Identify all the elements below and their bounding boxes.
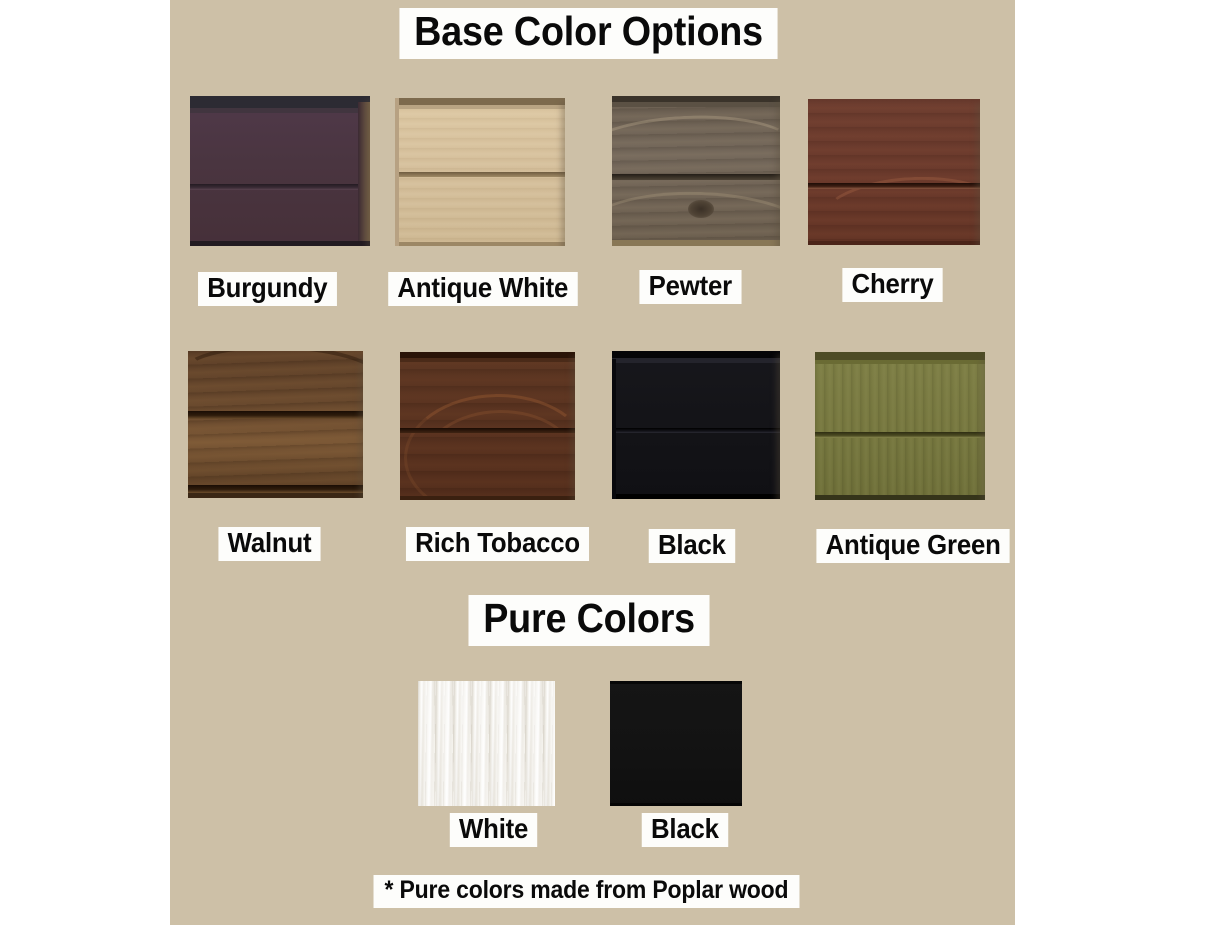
footnote-text: * Pure colors made from Poplar wood [374,875,800,908]
swatch-label-rich-tobacco: Rich Tobacco [406,527,589,561]
swatch-cherry [808,99,980,245]
swatch-black-wood [612,351,780,499]
swatch-label-burgundy: Burgundy [198,272,337,306]
page-root: Base Color Options Burgundy Antique Whit… [0,0,1214,925]
swatch-burgundy [190,96,370,246]
swatch-shadow [976,103,980,245]
swatch-walnut [188,351,363,498]
swatch-pure-black [610,681,742,806]
swatch-pewter [612,96,780,246]
swatch-label-pure-black: Black [642,813,728,847]
swatch-rich-tobacco [400,352,575,500]
swatch-label-pewter: Pewter [639,270,741,304]
page-title: Base Color Options [399,8,777,59]
swatch-shadow [776,355,780,499]
swatch-shadow [359,355,363,498]
swatch-label-antique-white: Antique White [388,272,577,306]
swatch-shadow [776,100,780,246]
swatch-label-cherry: Cherry [842,268,942,302]
swatch-antique-green [815,352,985,500]
swatch-antique-white [395,98,565,246]
color-chart-board: Base Color Options Burgundy Antique Whit… [170,0,1015,925]
swatch-shadow [571,356,575,500]
swatch-label-antique-green: Antique Green [816,529,1009,563]
swatch-pure-white [418,681,555,806]
swatch-label-black-wood: Black [649,529,735,563]
swatch-label-walnut: Walnut [218,527,320,561]
swatch-label-pure-white: White [450,813,538,847]
pure-colors-title: Pure Colors [468,595,709,646]
swatch-shadow [366,100,370,246]
swatch-shadow [981,356,985,500]
swatch-shadow [561,102,565,246]
